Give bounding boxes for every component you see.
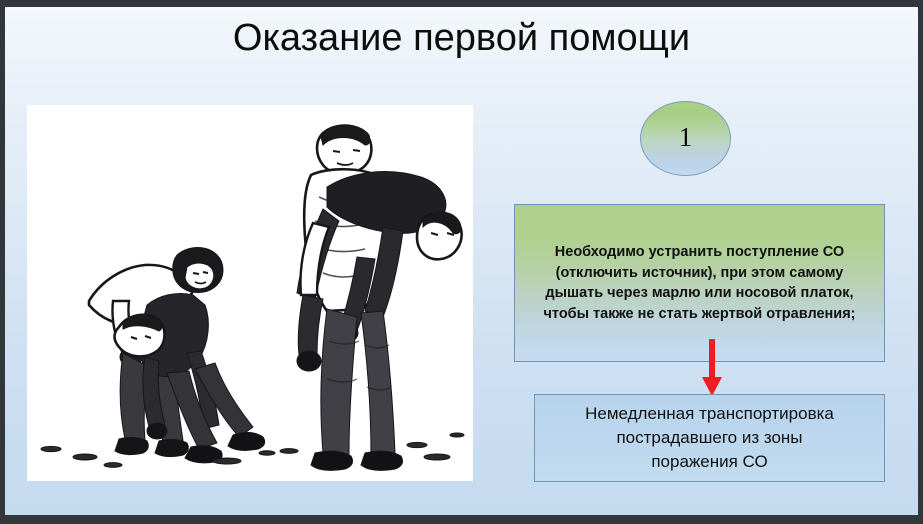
rescue-carry-drawing [27,105,473,481]
step-number-label: 1 [679,124,693,153]
result-action-text: Немедленная транспортировка пострадавшег… [575,402,844,474]
info-instruction-text: Необходимо устранить поступление СО (отк… [535,242,863,324]
slide-frame: Оказание первой помощи [0,0,923,524]
step-number-badge: 1 [640,101,731,176]
page-title: Оказание первой помощи [5,11,918,65]
result-action-box: Немедленная транспортировка пострадавшег… [534,394,885,482]
flow-arrow-down [700,339,724,397]
rescue-carry-illustration-svg [27,105,473,481]
down-arrow-icon [700,339,724,397]
slide-canvas: Оказание первой помощи [5,7,918,515]
